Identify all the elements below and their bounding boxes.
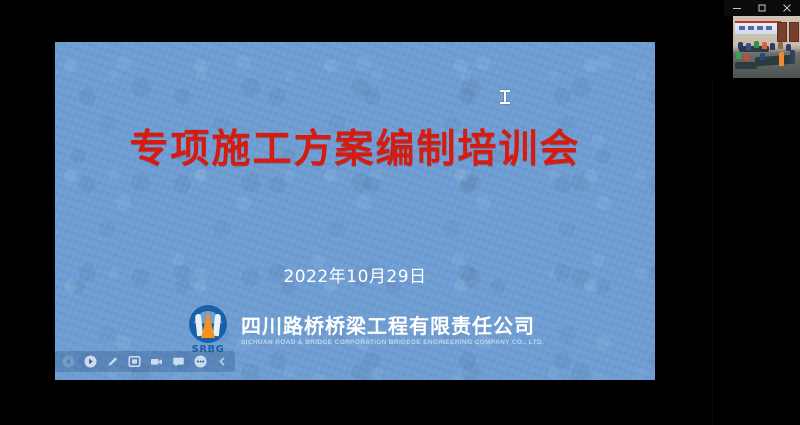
conference-room-video-thumbnail[interactable]	[733, 16, 800, 78]
video-attendee	[746, 43, 751, 50]
video-table	[735, 62, 757, 69]
chevron-left-icon	[217, 355, 228, 368]
video-attendee	[744, 54, 749, 61]
video-attendee	[790, 50, 795, 62]
slides-grid-icon	[128, 355, 141, 368]
all-slides-button[interactable]	[123, 352, 145, 371]
next-slide-button[interactable]	[79, 352, 101, 371]
collapse-toolbar-button[interactable]	[211, 352, 233, 371]
company-name-chinese: 四川路桥桥梁工程有限责任公司	[241, 315, 544, 338]
desktop-seam	[712, 78, 713, 425]
video-attendee	[754, 41, 759, 48]
minimize-icon[interactable]	[726, 0, 748, 16]
video-attendee	[760, 53, 765, 60]
video-attendee	[736, 52, 741, 59]
screen-root: 专项施工方案编制培训会 2022年10月29日 SRBG 四川路桥桥梁工程有限责…	[0, 0, 800, 425]
presenter-toolbar	[55, 351, 235, 372]
close-icon[interactable]	[776, 0, 798, 16]
video-camera-icon	[150, 355, 163, 368]
video-door-left	[777, 22, 787, 42]
window-controls	[724, 0, 800, 16]
srbg-logo-icon: SRBG	[185, 305, 231, 355]
video-attendee	[779, 52, 784, 66]
zoom-slide-button[interactable]	[145, 352, 167, 371]
company-block: SRBG 四川路桥桥梁工程有限责任公司 SICHUAN ROAD & BRIDG…	[185, 305, 544, 355]
presentation-slide[interactable]: 专项施工方案编制培训会 2022年10月29日 SRBG 四川路桥桥梁工程有限责…	[55, 42, 655, 380]
video-front-banner	[735, 21, 781, 34]
video-attendee	[738, 42, 743, 49]
slide-title: 专项施工方案编制培训会	[55, 130, 655, 169]
video-attendee	[778, 42, 783, 49]
speech-bubble-icon	[172, 355, 185, 368]
video-attendee	[762, 42, 767, 49]
logo-road-icon	[201, 311, 215, 338]
company-name-english: SICHUAN ROAD & BRIDGE CORPORATION BRIDEG…	[241, 339, 544, 346]
pen-tool-button[interactable]	[101, 352, 123, 371]
ellipsis-circle-icon	[194, 355, 207, 368]
pen-icon	[106, 355, 119, 368]
company-names: 四川路桥桥梁工程有限责任公司 SICHUAN ROAD & BRIDGE COR…	[241, 315, 544, 346]
chevron-left-circle-icon	[62, 355, 75, 368]
restore-icon[interactable]	[751, 0, 773, 16]
chevron-right-circle-icon	[84, 355, 97, 368]
video-attendee	[770, 43, 775, 50]
previous-slide-button[interactable]	[57, 352, 79, 371]
subtitles-button[interactable]	[167, 352, 189, 371]
slide-date: 2022年10月29日	[55, 262, 655, 287]
video-door-right	[789, 22, 799, 42]
more-options-button[interactable]	[189, 352, 211, 371]
